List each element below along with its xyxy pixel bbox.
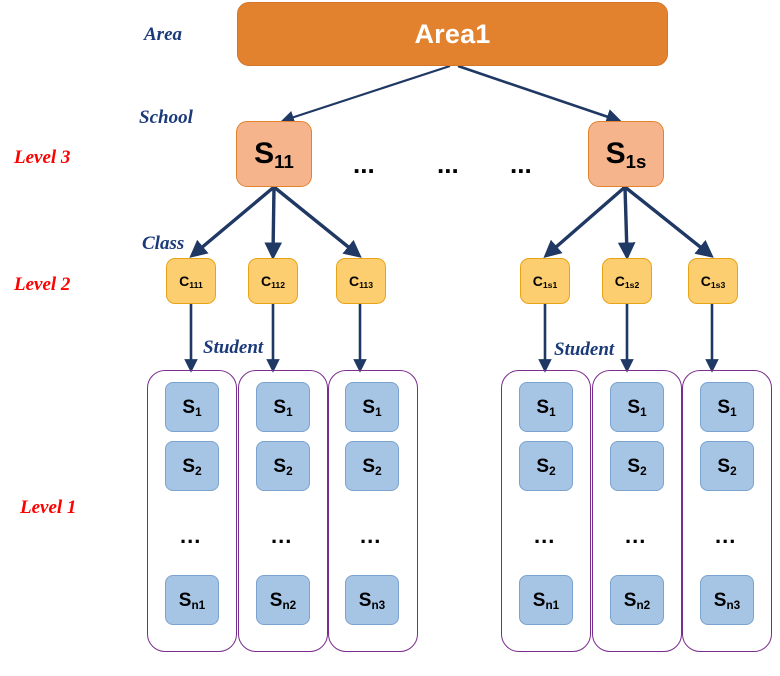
student-node-left-3-s1[interactable]: S1 <box>345 382 399 432</box>
student-node-right-3-sn[interactable]: Sn3 <box>700 575 754 625</box>
school-node-s11[interactable]: S11 <box>236 121 312 187</box>
class-node-c113[interactable]: C113 <box>336 258 386 304</box>
student-label: S2 <box>536 457 555 476</box>
student-label: Sn3 <box>714 591 740 610</box>
student-label: S2 <box>717 457 736 476</box>
diagram-canvas: Area School Class Student Student Level … <box>0 0 780 676</box>
student-ellipsis-right-1: ... <box>534 525 555 547</box>
class-node-c113-label: C113 <box>349 274 373 288</box>
student-label: S1 <box>182 398 201 417</box>
edge-school1-to-class-112 <box>273 187 274 254</box>
label-level-3: Level 3 <box>14 148 70 167</box>
edge-area-to-school-1 <box>285 66 450 120</box>
label-area: Area <box>144 25 182 44</box>
school-node-s11-label: S11 <box>254 139 294 169</box>
school-ellipsis-3: ... <box>510 151 532 177</box>
student-label: Sn1 <box>179 591 205 610</box>
student-ellipsis-left-3: ... <box>360 525 381 547</box>
student-label: S1 <box>362 398 381 417</box>
student-label: Sn3 <box>359 591 385 610</box>
student-node-left-1-s2[interactable]: S2 <box>165 441 219 491</box>
label-class: Class <box>142 234 184 253</box>
student-node-right-2-sn[interactable]: Sn2 <box>610 575 664 625</box>
class-node-c112-label: C112 <box>261 274 285 288</box>
student-label: Sn2 <box>270 591 296 610</box>
student-node-left-3-sn[interactable]: Sn3 <box>345 575 399 625</box>
label-level-1: Level 1 <box>20 498 76 517</box>
student-node-right-2-s1[interactable]: S1 <box>610 382 664 432</box>
student-label: S2 <box>273 457 292 476</box>
area-node-label: Area1 <box>414 21 490 48</box>
label-student-left: Student <box>203 338 263 357</box>
student-node-left-1-s1[interactable]: S1 <box>165 382 219 432</box>
class-node-c1s3-label: C1s3 <box>701 274 726 288</box>
school-node-s1s[interactable]: S1s <box>588 121 664 187</box>
edge-school1-to-class-111 <box>194 187 274 254</box>
student-node-left-2-sn[interactable]: Sn2 <box>256 575 310 625</box>
student-node-left-3-s2[interactable]: S2 <box>345 441 399 491</box>
edge-school1-to-class-113 <box>274 187 357 254</box>
label-level-2: Level 2 <box>14 275 70 294</box>
student-ellipsis-left-1: ... <box>180 525 201 547</box>
school-node-s1s-label: S1s <box>606 139 647 169</box>
student-label: Sn2 <box>624 591 650 610</box>
student-ellipsis-right-2: ... <box>625 525 646 547</box>
student-label: S1 <box>717 398 736 417</box>
class-node-c1s3[interactable]: C1s3 <box>688 258 738 304</box>
edge-school2-to-class-1s2 <box>625 187 627 254</box>
edge-school2-to-class-1s3 <box>625 187 709 254</box>
student-node-right-1-sn[interactable]: Sn1 <box>519 575 573 625</box>
student-label: Sn1 <box>533 591 559 610</box>
school-ellipsis-1: ... <box>353 151 375 177</box>
class-node-c111-label: C111 <box>179 274 203 288</box>
student-node-left-1-sn[interactable]: Sn1 <box>165 575 219 625</box>
class-node-c112[interactable]: C112 <box>248 258 298 304</box>
student-label: S1 <box>627 398 646 417</box>
student-label: S2 <box>182 457 201 476</box>
student-label: S2 <box>627 457 646 476</box>
student-ellipsis-right-3: ... <box>715 525 736 547</box>
label-student-right: Student <box>554 340 614 359</box>
edge-school2-to-class-1s1 <box>548 187 625 254</box>
class-node-c1s2[interactable]: C1s2 <box>602 258 652 304</box>
student-label: S1 <box>536 398 555 417</box>
student-node-left-2-s1[interactable]: S1 <box>256 382 310 432</box>
school-ellipsis-2: ... <box>437 151 459 177</box>
student-node-right-1-s1[interactable]: S1 <box>519 382 573 432</box>
student-node-right-3-s2[interactable]: S2 <box>700 441 754 491</box>
area-node[interactable]: Area1 <box>237 2 668 66</box>
edge-area-to-school-2 <box>458 66 617 120</box>
student-node-right-2-s2[interactable]: S2 <box>610 441 664 491</box>
class-node-c1s1[interactable]: C1s1 <box>520 258 570 304</box>
student-node-right-1-s2[interactable]: S2 <box>519 441 573 491</box>
student-label: S1 <box>273 398 292 417</box>
class-node-c1s2-label: C1s2 <box>615 274 640 288</box>
label-school: School <box>139 108 193 127</box>
class-node-c111[interactable]: C111 <box>166 258 216 304</box>
student-ellipsis-left-2: ... <box>271 525 292 547</box>
student-node-right-3-s1[interactable]: S1 <box>700 382 754 432</box>
class-node-c1s1-label: C1s1 <box>533 274 558 288</box>
student-node-left-2-s2[interactable]: S2 <box>256 441 310 491</box>
student-label: S2 <box>362 457 381 476</box>
